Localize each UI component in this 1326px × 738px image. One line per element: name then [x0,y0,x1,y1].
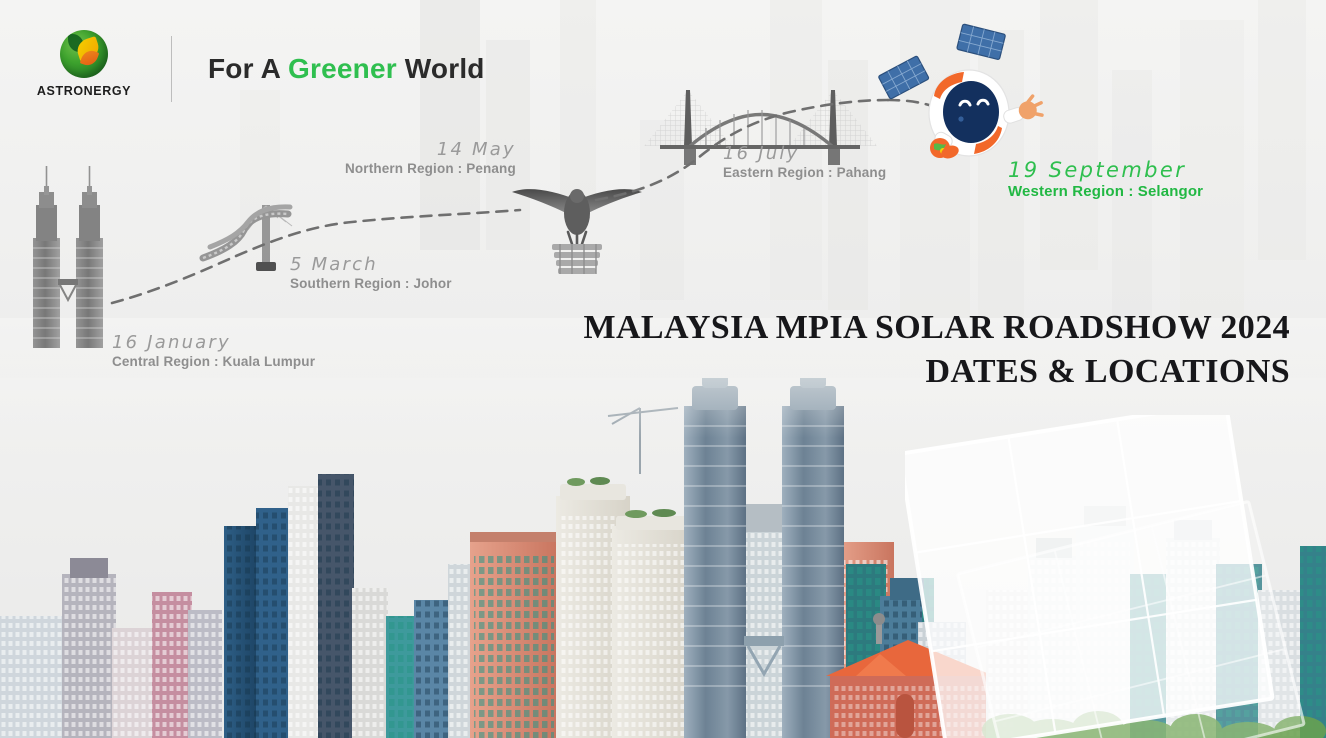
tagline-pre: For A [208,53,288,84]
stop-date: 14 May [345,139,516,160]
stop-region: Western Region : Selangor [1008,183,1203,200]
stop-date: 5 March [290,254,452,275]
stop-region: Central Region : Kuala Lumpur [112,354,315,369]
header: ASTRONERGY For A Greener World [0,0,1326,130]
stop-label-selangor: 19 September Western Region : Selangor [1008,158,1203,200]
brand-tagline: For A Greener World [208,53,485,85]
stop-region: Northern Region : Penang [345,161,516,176]
poster-title: MALAYSIA MPIA SOLAR ROADSHOW 2024 DATES … [583,306,1290,393]
stop-label-johor: 5 March Southern Region : Johor [290,254,452,291]
header-divider [171,36,172,102]
title-line-2: DATES & LOCATIONS [583,350,1290,394]
stop-label-pahang: 16 July Eastern Region : Pahang [723,143,886,180]
tagline-accent: Greener [288,53,397,84]
brand-logo-text: ASTRONERGY [36,84,132,98]
stop-region: Eastern Region : Pahang [723,165,886,180]
stop-date: 16 January [112,332,315,353]
stop-date: 16 July [723,143,886,164]
stop-date: 19 September [1008,158,1203,182]
brand-logo[interactable]: ASTRONERGY [36,30,132,98]
stop-label-kuala-lumpur: 16 January Central Region : Kuala Lumpur [112,332,315,369]
petronas-twin-towers-icon [33,166,103,348]
eagle-statue-icon [512,189,642,274]
title-line-1: MALAYSIA MPIA SOLAR ROADSHOW 2024 [583,306,1290,350]
poster-canvas: ASTRONERGY For A Greener World [0,0,1326,738]
stop-label-penang: 14 May Northern Region : Penang [345,139,516,176]
stop-region: Southern Region : Johor [290,276,452,291]
astronergy-globe-icon [60,30,108,78]
kuala-lumpur-skyline-photo [0,378,1326,738]
tagline-post: World [397,53,485,84]
